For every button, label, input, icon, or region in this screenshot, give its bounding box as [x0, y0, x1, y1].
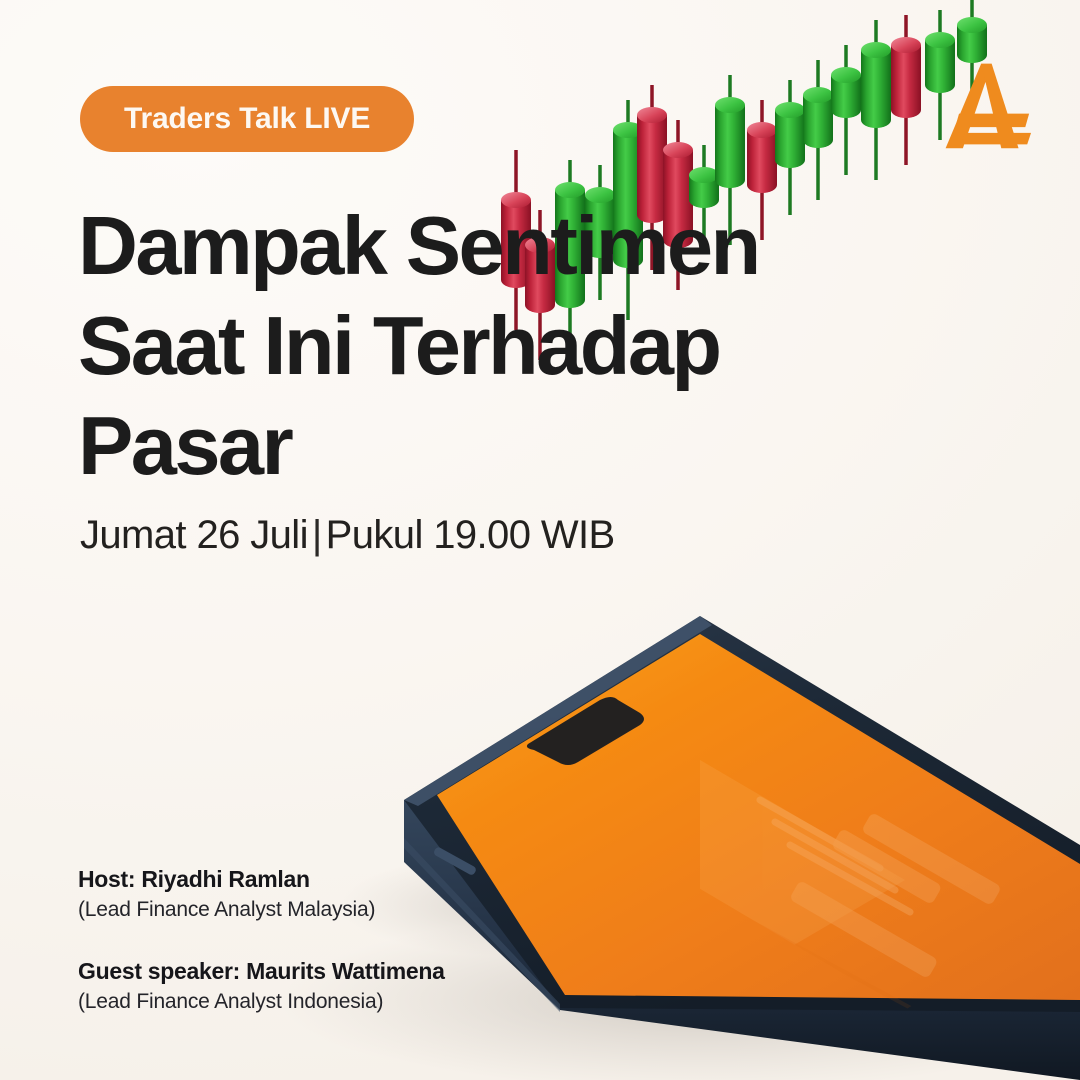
headline-line-1: Dampak Sentimen	[78, 196, 838, 296]
datetime-separator: |	[308, 513, 326, 558]
candle-13	[831, 45, 861, 175]
host-name: Host: Riyadhi Ramlan	[78, 866, 598, 893]
candle-12	[803, 60, 833, 200]
page-title: Dampak Sentimen Saat Ini Terhadap Pasar	[78, 196, 838, 496]
candle-14	[861, 20, 891, 180]
event-date: Jumat 26 Juli	[80, 513, 308, 557]
host-role: (Lead Finance Analyst Malaysia)	[78, 898, 598, 922]
credit-host: Host: Riyadhi Ramlan (Lead Finance Analy…	[78, 866, 598, 922]
candle-11	[775, 80, 805, 215]
promo-poster: Traders Talk LIVE Dampak Sentimen Saat I…	[0, 0, 1080, 1080]
event-time: Pukul 19.00 WIB	[326, 513, 615, 557]
guest-role: (Lead Finance Analyst Indonesia)	[78, 990, 598, 1014]
ascendex-a-logo-icon	[936, 58, 1032, 154]
headline-line-3: Pasar	[78, 396, 838, 496]
event-datetime: Jumat 26 Juli|Pukul 19.00 WIB	[80, 513, 615, 558]
live-badge[interactable]: Traders Talk LIVE	[80, 86, 414, 152]
speaker-credits: Host: Riyadhi Ramlan (Lead Finance Analy…	[78, 866, 598, 1014]
credit-guest: Guest speaker: Maurits Wattimena (Lead F…	[78, 958, 598, 1014]
candle-15	[891, 15, 921, 165]
guest-name: Guest speaker: Maurits Wattimena	[78, 958, 598, 985]
headline-line-2: Saat Ini Terhadap	[78, 296, 838, 396]
